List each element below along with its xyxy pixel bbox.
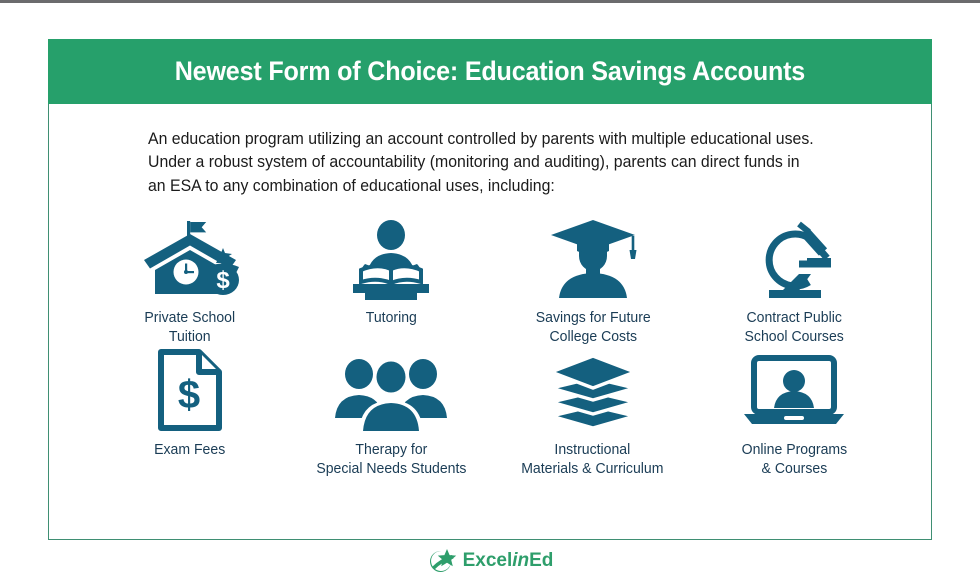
grid-item-label: Instructional Materials & Curriculum [522, 441, 664, 478]
book-stack-icon [545, 350, 641, 432]
grid-item-exam-fees: $ Exam Fees [89, 350, 291, 482]
intro-paragraph: An education program utilizing an accoun… [148, 128, 820, 198]
document-dollar-icon: $ [153, 350, 227, 432]
grid-item-label: Therapy for Special Needs Students [316, 441, 466, 478]
esa-uses-grid: $ Private School Tuition [49, 218, 931, 482]
grid-item-therapy-special-needs: Therapy for Special Needs Students [291, 350, 493, 482]
grid-item-label: Tutoring [366, 309, 417, 328]
grid-item-label: Savings for Future College Costs [535, 309, 650, 346]
grid-item-label: Exam Fees [154, 441, 225, 460]
infographic-card: Newest Form of Choice: Education Savings… [48, 40, 932, 540]
grid-item-tutoring: Tutoring [291, 218, 493, 350]
grid-item-label: Contract Public School Courses [745, 309, 844, 346]
grid-item-public-school-courses: Contract Public School Courses [694, 218, 896, 350]
laptop-person-icon [740, 350, 848, 432]
card-header-bar: Newest Form of Choice: Education Savings… [48, 39, 932, 104]
logo-word-excel: Excel [463, 550, 513, 571]
logo-word-ed: Ed [529, 550, 553, 571]
grid-item-label: Online Programs & Courses [741, 441, 847, 478]
school-building-icon: $ [137, 218, 243, 300]
infographic-page: Newest Form of Choice: Education Savings… [0, 3, 980, 588]
grid-item-college-savings: Savings for Future College Costs [492, 218, 694, 350]
tutoring-podium-icon [341, 218, 441, 300]
footer-logo: ExcelinEd [0, 548, 980, 574]
page-title: Newest Form of Choice: Education Savings… [175, 56, 805, 87]
logo-word-in: in [512, 550, 529, 571]
svg-text:$: $ [216, 267, 230, 294]
graduate-icon [547, 218, 639, 300]
people-group-icon [333, 350, 449, 432]
microscope-icon [751, 218, 837, 300]
grid-item-online-programs: Online Programs & Courses [694, 350, 896, 482]
grid-item-private-school-tuition: $ Private School Tuition [89, 218, 291, 350]
grid-item-instructional-materials: Instructional Materials & Curriculum [492, 350, 694, 482]
svg-text:$: $ [178, 373, 200, 417]
logo-wordmark: ExcelinEd [463, 550, 554, 572]
excelined-swoosh-star-icon [427, 548, 457, 574]
grid-item-label: Private School Tuition [144, 309, 235, 346]
